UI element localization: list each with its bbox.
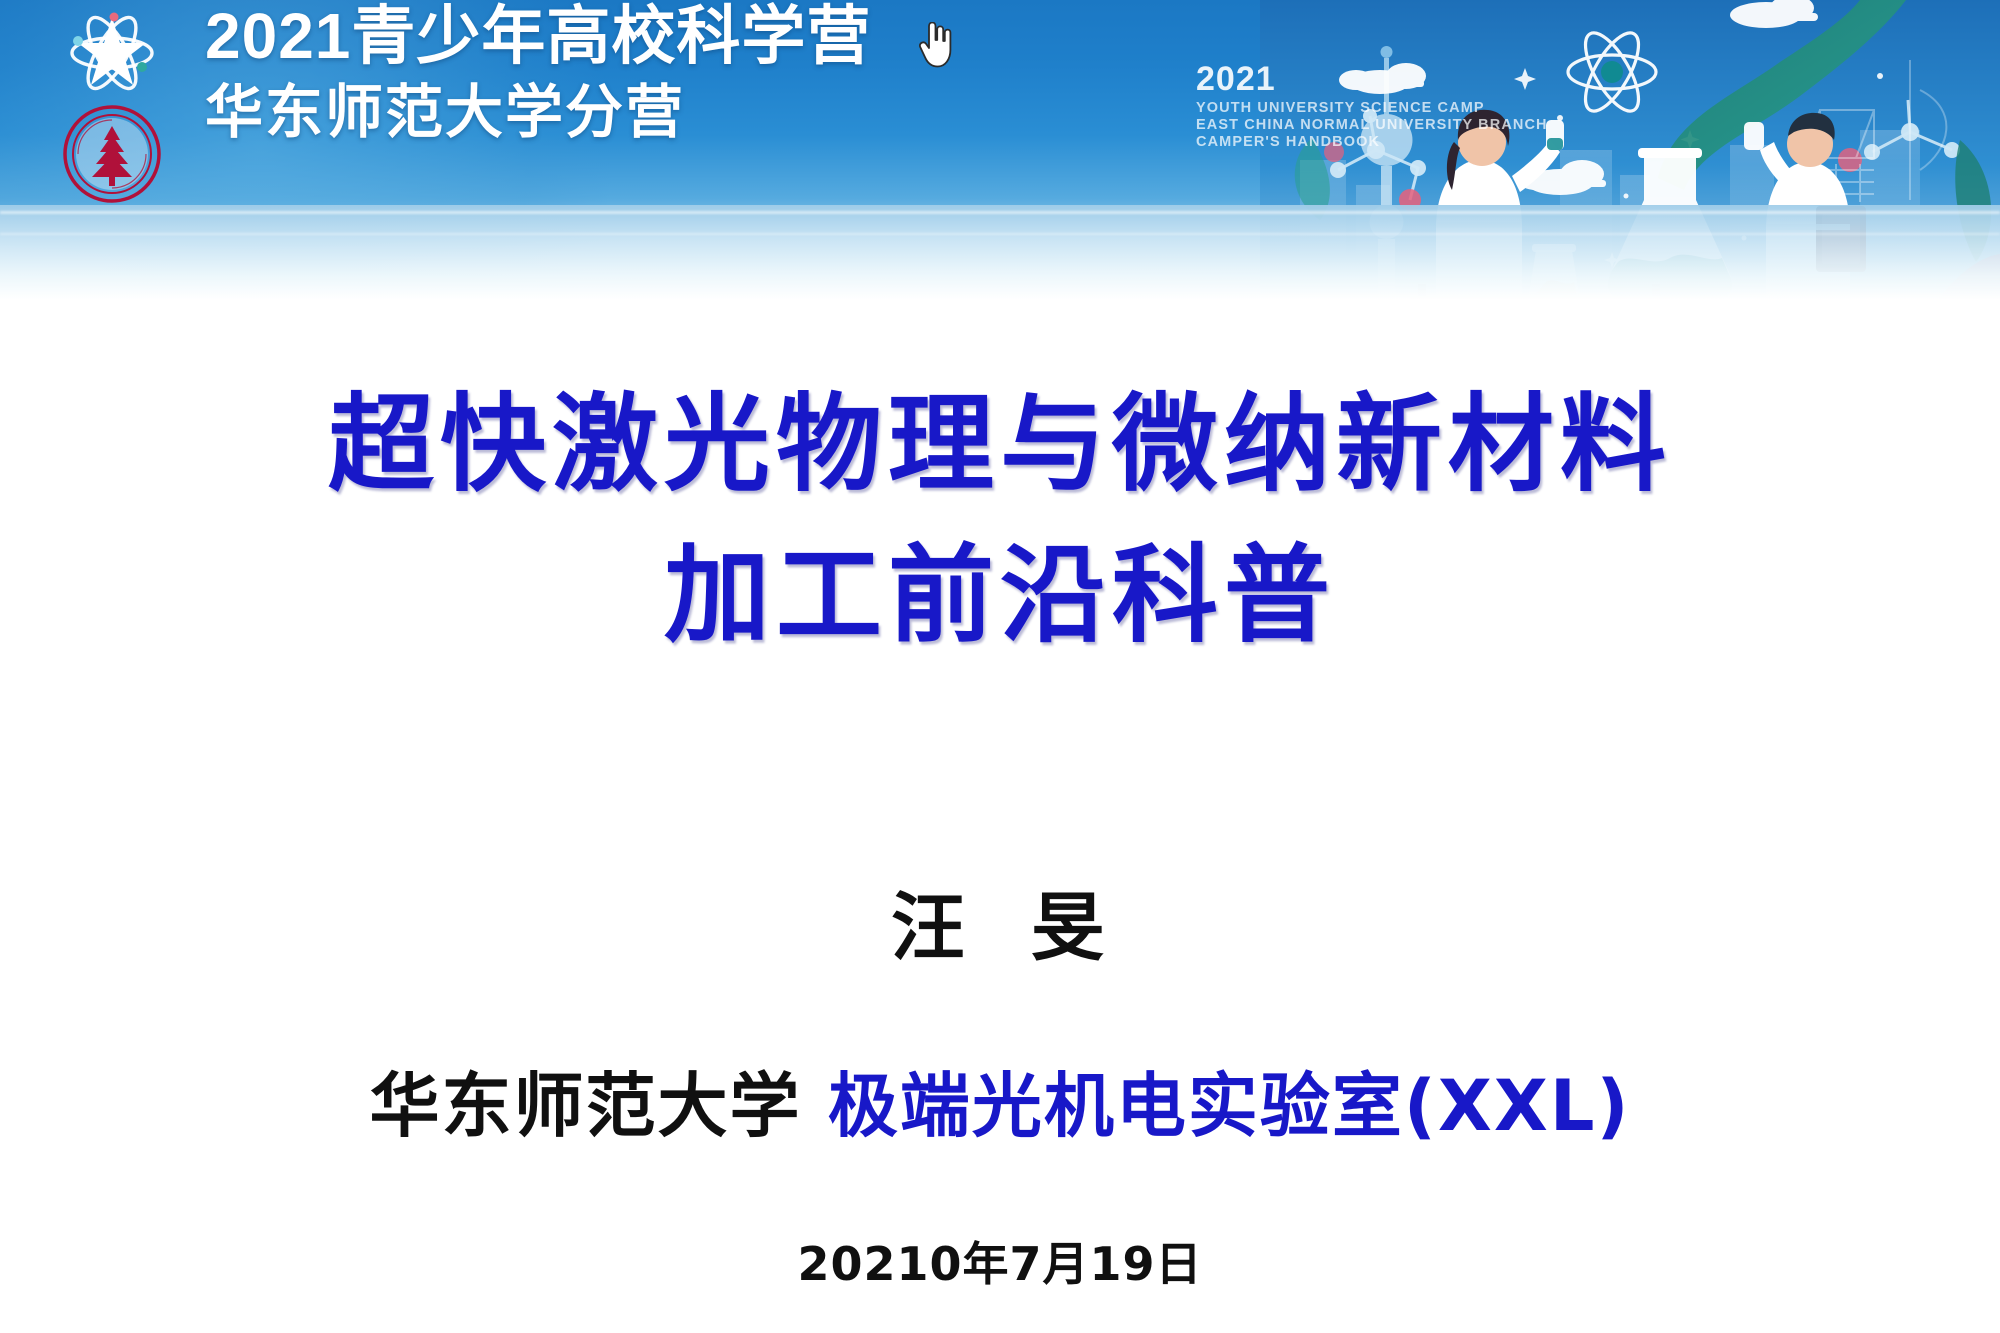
banner-title-line2: 华东师范大学分营 — [205, 82, 685, 145]
author-givenname: 旻 — [1031, 885, 1109, 971]
banner-english-block: 2021 YOUTH UNIVERSITY SCIENCE CAMP EAST … — [1196, 62, 1548, 151]
banner-title-line1: 2021青少年高校科学营 — [205, 2, 871, 71]
author-name: 汪旻 — [0, 868, 2000, 975]
presentation-slide: 2021青少年高校科学营 华东师范大学分营 2021 YOUTH UNIVERS… — [0, 0, 2000, 1333]
banner-english-line2: EAST CHINA NORMAL UNIVERSITY BRANCH — [1196, 117, 1548, 134]
slide-title-line2: 加工前沿科普 — [0, 521, 2000, 672]
slide-banner: 2021青少年高校科学营 华东师范大学分营 2021 YOUTH UNIVERS… — [0, 0, 2000, 300]
affiliation-line: 华东师范大学 极端光机电实验室(XXL) — [0, 1050, 2000, 1151]
affiliation-university: 华东师范大学 — [370, 1065, 802, 1147]
atom-icon — [58, 4, 166, 102]
banner-english-line3: CAMPER'S HANDBOOK — [1196, 134, 1548, 151]
slide-title-block: 超快激光物理与微纳新材料 加工前沿科普 — [0, 370, 2000, 671]
banner-english-line1: YOUTH UNIVERSITY SCIENCE CAMP — [1196, 100, 1548, 117]
ecnu-seal-icon — [62, 104, 162, 204]
banner-english-year: 2021 — [1196, 62, 1548, 96]
slide-title-line1: 超快激光物理与微纳新材料 — [0, 370, 2000, 521]
affiliation-lab: 极端光机电实验室(XXL) — [828, 1065, 1631, 1147]
banner-water-reflection — [0, 205, 2000, 300]
slide-date: 20210年7月19日 — [0, 1228, 2000, 1294]
author-surname: 汪 — [891, 885, 969, 971]
